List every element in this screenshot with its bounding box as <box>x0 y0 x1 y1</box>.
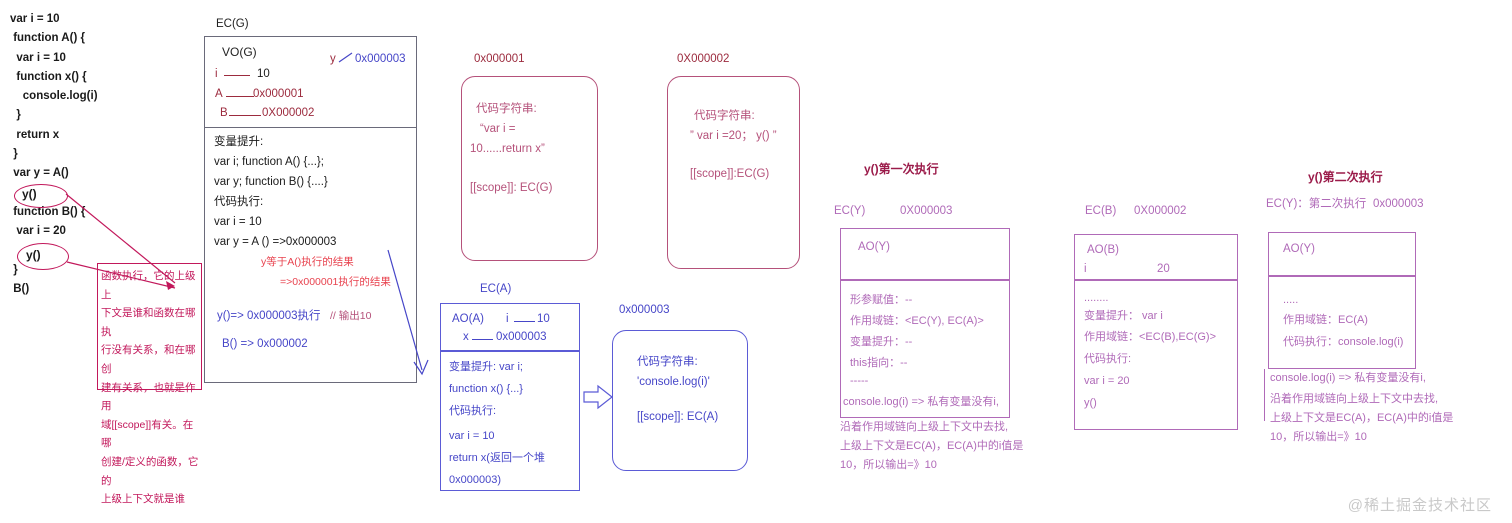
ecy1-outside-line: 10，所以输出=》10 <box>840 456 937 475</box>
annotation-line: 建有关系，也就是作用 <box>101 379 199 416</box>
ecy2-box: AO(Y) ..... 作用域链：EC(A) 代码执行：console.log(… <box>1268 232 1416 369</box>
ecg-exec-line: var i = 10 <box>214 213 262 232</box>
ecg-divider <box>205 127 416 128</box>
vog-side-value: 0x000003 <box>355 50 406 69</box>
heap1-scope: [[scope]]: EC(G) <box>470 179 552 198</box>
heap1-label: 0x000001 <box>474 53 525 65</box>
heap2-label: 0X000002 <box>677 53 729 65</box>
heap2-scope: [[scope]]:EC(G) <box>690 165 769 184</box>
heap1-title: 代码字符串: <box>476 100 537 119</box>
ecy2-outside-bracket <box>1264 369 1265 421</box>
ecb-divider <box>1075 279 1237 281</box>
ecy2-line: 代码执行：console.log(i) <box>1283 333 1403 351</box>
vog-side-name: y <box>330 50 336 69</box>
vog-row-name: A <box>215 85 223 104</box>
eca-line: 代码执行: <box>449 402 496 420</box>
ecy1-divider <box>841 279 1009 281</box>
eca-label: EC(A) <box>480 283 511 295</box>
eca-line: return x(返回一个堆 <box>449 449 545 467</box>
ecy1-addr: 0X000003 <box>900 202 952 221</box>
vog-row-value: 0x000001 <box>253 85 304 104</box>
vog-row-connector <box>224 75 250 76</box>
ecg-hoist-line: var i; function A() {...}; <box>214 153 324 172</box>
ecb-addr: 0X000002 <box>1134 202 1186 221</box>
ecg-hoist-line: var y; function B() {....} <box>214 173 328 192</box>
vog-title: VO(G) <box>222 43 257 62</box>
ecb-line: ........ <box>1084 289 1108 307</box>
eca-line: 0x000003) <box>449 471 501 489</box>
heap2-box: 代码字符串: ” var i =20； y() ” [[scope]]:EC(G… <box>667 76 800 269</box>
ecb-line: 代码执行: <box>1084 350 1131 368</box>
aoa-row-value: 10 <box>537 310 550 329</box>
aoa-row-value: 0x000003 <box>496 328 547 347</box>
heap2-title: 代码字符串: <box>694 107 755 126</box>
heap3-box: 代码字符串: 'console.log(i)' [[scope]]: EC(A) <box>612 330 748 471</box>
aoa-title: AO(A) <box>452 310 484 329</box>
ecy2-addr: 0x000003 <box>1373 195 1424 214</box>
ecg-exec-line: y()=> 0x000003执行 <box>217 307 321 326</box>
ecb-line: y() <box>1084 394 1097 412</box>
ecg-exec-note-2: =>0x000001执行的结果 <box>280 273 391 292</box>
ecy2-divider <box>1269 275 1415 277</box>
heap1-body-line: “var i = <box>480 120 515 139</box>
vog-row-value: 0X000002 <box>262 104 314 123</box>
ecy1-line: console.log(i) => 私有变量没有i, <box>843 393 999 411</box>
heap1-body-line: 10......return x” <box>470 140 545 159</box>
eca-box: AO(A) i 10 x 0x000003 变量提升: var i; funct… <box>440 303 580 491</box>
aoy2-title: AO(Y) <box>1283 240 1315 259</box>
ecg-exec-comment: // 输出10 <box>330 307 371 326</box>
annotation-scope-note: 函数执行，它的上级上 下文是谁和函数在哪执 行没有关系，和在哪创 建有关系，也就… <box>97 263 202 390</box>
ecy2-outside-line: 10，所以输出=》10 <box>1270 428 1367 447</box>
ecy1-line: 形参赋值：-- <box>850 291 912 309</box>
annotation-line: 域[[scope]]有关。在哪 <box>101 416 199 453</box>
ecg-exec-title: 代码执行: <box>214 193 263 212</box>
vog-row-name: B <box>220 104 228 123</box>
ecy2-line: ..... <box>1283 291 1298 309</box>
eca-line: var i = 10 <box>449 427 495 445</box>
aoa-row-name: i <box>506 310 509 329</box>
ecy1-line: this指向：-- <box>850 354 907 372</box>
aob-row-value: 20 <box>1157 260 1170 279</box>
vog-row-name: i <box>215 65 218 84</box>
aoa-row-connector <box>472 339 493 340</box>
vog-row-value: 10 <box>257 65 270 84</box>
aob-row-name: i <box>1084 260 1087 279</box>
eca-divider <box>441 350 579 352</box>
annotation-line: 上级上下文就是谁 <box>101 490 199 509</box>
vog-row-connector <box>229 115 261 116</box>
ecb-label: EC(B) <box>1085 202 1116 221</box>
annotation-line: 下文是谁和函数在哪执 <box>101 304 199 341</box>
annotation-line: 创建/定义的函数，它的 <box>101 453 199 490</box>
ecg-exec-line: B() => 0x000002 <box>222 335 308 354</box>
block-arrow-eca-to-heap3 <box>583 385 615 411</box>
ecy1-line: 变量提升：-- <box>850 333 912 351</box>
aoa-row-connector <box>514 321 535 322</box>
arrow-ecg-to-eca <box>380 250 440 390</box>
heap3-scope: [[scope]]: EC(A) <box>637 408 718 427</box>
eca-line: 变量提升: var i; <box>449 358 523 376</box>
aoy1-title: AO(Y) <box>858 238 890 257</box>
ecg-exec-line: var y = A () =>0x000003 <box>214 233 336 252</box>
heap3-title: 代码字符串: <box>637 353 698 372</box>
ecg-label: EC(G) <box>216 18 249 30</box>
ecb-line: 作用域链：<EC(B),EC(G)> <box>1084 328 1216 346</box>
vog-row-connector <box>226 96 254 97</box>
eca-line: function x() {...} <box>449 380 523 398</box>
ecy2-outside-line: 上级上下文是EC(A)，EC(A)中的i值是 <box>1270 409 1453 428</box>
heap3-label: 0x000003 <box>619 304 670 316</box>
ecy1-line: ----- <box>850 372 868 390</box>
ecy1-label: EC(Y) <box>834 202 865 221</box>
ecy2-heading: y()第二次执行 <box>1308 168 1383 185</box>
ecb-line: 变量提升： var i <box>1084 307 1163 325</box>
annotation-line: 行没有关系，和在哪创 <box>101 341 199 378</box>
ecy1-box: AO(Y) 形参赋值：-- 作用域链：<EC(Y), EC(A)> 变量提升：-… <box>840 228 1010 418</box>
ecy2-line: 作用域链：EC(A) <box>1283 311 1368 329</box>
heap1-box: 代码字符串: “var i = 10......return x” [[scop… <box>461 76 598 261</box>
ecy2-label: EC(Y)：第二次执行 <box>1266 195 1366 214</box>
ecy2-outside-line: 沿着作用域链向上级上下文中去找, <box>1270 390 1438 409</box>
ecy1-heading: y()第一次执行 <box>864 160 939 177</box>
ecy2-outside-first: console.log(i) => 私有变量没有i, <box>1270 369 1426 388</box>
ecb-line: var i = 20 <box>1084 372 1130 390</box>
ecy1-outside-line: 沿着作用域链向上级上下文中去找, <box>840 418 1008 437</box>
ecb-box: AO(B) i 20 ........ 变量提升： var i 作用域链：<EC… <box>1074 234 1238 430</box>
heap2-body-line: ” var i =20； y() ” <box>690 127 777 146</box>
annotation-line: 函数执行，它的上级上 <box>101 267 199 304</box>
aob-title: AO(B) <box>1087 241 1119 260</box>
heap3-body-line: 'console.log(i)' <box>637 373 710 392</box>
ecg-exec-note-1: y等于A()执行的结果 <box>261 253 354 272</box>
ecy1-outside-line: 上级上下文是EC(A)，EC(A)中的i值是 <box>840 437 1023 456</box>
aoa-row-name: x <box>463 328 469 347</box>
ecy1-line: 作用域链：<EC(Y), EC(A)> <box>850 312 984 330</box>
watermark: @稀土掘金技术社区 <box>1348 494 1492 515</box>
ecg-hoist-title: 变量提升: <box>214 133 263 152</box>
